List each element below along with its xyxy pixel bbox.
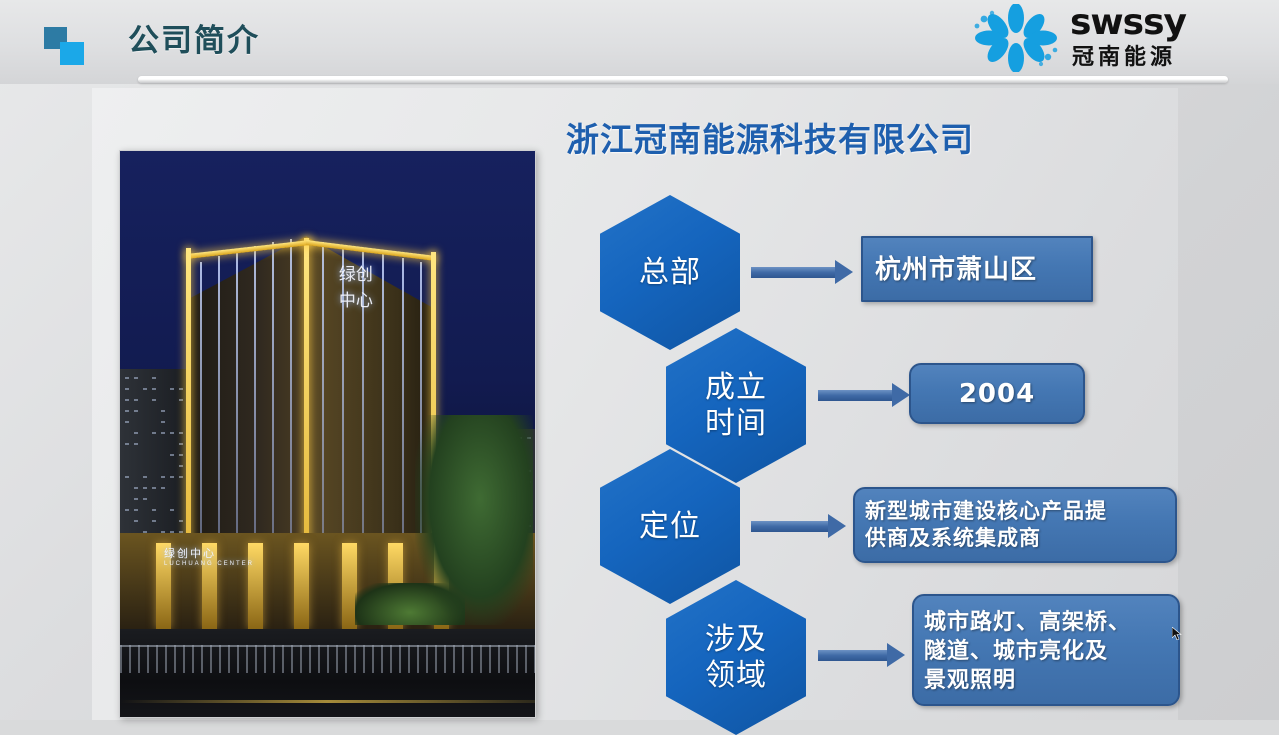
water-droplet-petals-icon <box>968 4 1064 72</box>
window-light <box>152 520 156 522</box>
window-light <box>170 476 174 478</box>
window-light <box>179 520 183 522</box>
value-box-headquarters[interactable]: 杭州市萧山区 <box>861 236 1093 302</box>
window-light <box>152 432 156 434</box>
value-text-line: 城市路灯、高架桥、 <box>924 607 1131 636</box>
window-light <box>161 432 165 434</box>
podium-sign: 绿创中心 LUCHUANG CENTER <box>164 545 254 567</box>
window-light <box>125 443 129 445</box>
window-light <box>134 498 138 500</box>
podium-sign-cn: 绿创中心 <box>164 548 216 560</box>
slide: 公司简介 <box>0 0 1279 720</box>
window-light <box>134 443 138 445</box>
window-light <box>179 465 183 467</box>
window-light <box>179 443 183 445</box>
window-light <box>143 498 147 500</box>
header-divider <box>138 76 1228 83</box>
arrow-founded <box>818 390 893 401</box>
window-light <box>134 487 138 489</box>
window-light <box>179 432 183 434</box>
window-light <box>152 377 156 379</box>
window-light <box>161 410 165 412</box>
value-text-line: 景观照明 <box>924 665 1131 694</box>
value-box-positioning[interactable]: 新型城市建设核心产品提 供商及系统集成商 <box>853 487 1177 563</box>
value-text: 杭州市萧山区 <box>863 253 1049 285</box>
value-text-line: 供商及系统集成商 <box>865 525 1107 552</box>
hex-fields[interactable]: 涉及 领域 <box>666 580 806 735</box>
hex-label-line: 总部 <box>639 255 701 291</box>
value-text: 2004 <box>947 379 1047 409</box>
page-title: 公司简介 <box>128 21 260 61</box>
value-box-founded[interactable]: 2004 <box>909 363 1085 424</box>
foreground-tree <box>415 415 533 625</box>
window-light <box>170 454 174 456</box>
window-light <box>179 476 183 478</box>
window-light <box>134 410 138 412</box>
window-light <box>143 476 147 478</box>
window-light <box>152 399 156 401</box>
window-light <box>143 388 147 390</box>
window-light <box>152 388 156 390</box>
hex-headquarters[interactable]: 总部 <box>600 195 740 350</box>
window-light <box>125 399 129 401</box>
window-light <box>170 432 174 434</box>
hex-label-line: 领域 <box>705 658 767 694</box>
hex-label-line: 时间 <box>705 406 767 442</box>
header-square-light-icon <box>60 42 84 65</box>
company-facts-diagram: 总部 杭州市萧山区 成立 时间 2004 定位 新型城市建设核心产品提 供商及系… <box>566 195 1186 715</box>
arrow-positioning <box>751 521 829 532</box>
street <box>120 629 535 717</box>
window-light <box>161 476 165 478</box>
building-photo: 绿创中心 绿创中心 LUCHUANG CENTER <box>119 150 536 718</box>
window-light <box>179 454 183 456</box>
window-light <box>143 487 147 489</box>
window-light <box>134 509 138 511</box>
slide-header: 公司简介 <box>0 0 1279 84</box>
window-light <box>134 399 138 401</box>
arrow-fields <box>818 650 888 661</box>
value-box-fields[interactable]: 城市路灯、高架桥、 隧道、城市亮化及 景观照明 <box>912 594 1180 706</box>
tower-vertical-sign: 绿创中心 <box>338 262 374 382</box>
window-light <box>134 520 138 522</box>
window-light <box>161 487 165 489</box>
window-light <box>179 388 183 390</box>
window-light <box>125 377 129 379</box>
window-light <box>170 509 174 511</box>
road-lane-marking <box>120 700 535 703</box>
window-light <box>125 421 129 423</box>
window-light <box>125 476 129 478</box>
value-text-line: 新型城市建设核心产品提 <box>865 498 1107 525</box>
window-light <box>134 432 138 434</box>
window-light <box>125 410 129 412</box>
mouse-cursor-icon <box>1172 627 1182 640</box>
window-light <box>134 377 138 379</box>
hex-label-line: 成立 <box>705 370 767 406</box>
hex-label-line: 涉及 <box>705 622 767 658</box>
brand-logo: swssy 冠南能源 <box>968 2 1268 76</box>
window-light <box>152 487 156 489</box>
arrow-headquarters <box>751 267 836 278</box>
window-light <box>125 509 129 511</box>
company-title: 浙江冠南能源科技有限公司 <box>566 117 974 163</box>
window-light <box>170 388 174 390</box>
window-light <box>152 509 156 511</box>
window-light <box>161 421 165 423</box>
brand-name-cn: 冠南能源 <box>1072 44 1176 70</box>
street-railing <box>120 645 535 673</box>
window-light <box>179 399 183 401</box>
podium-sign-en: LUCHUANG CENTER <box>164 561 254 567</box>
window-light <box>125 388 129 390</box>
hex-label-line: 定位 <box>639 509 701 545</box>
value-text-line: 隧道、城市亮化及 <box>924 636 1131 665</box>
brand-name: swssy <box>1070 4 1186 42</box>
